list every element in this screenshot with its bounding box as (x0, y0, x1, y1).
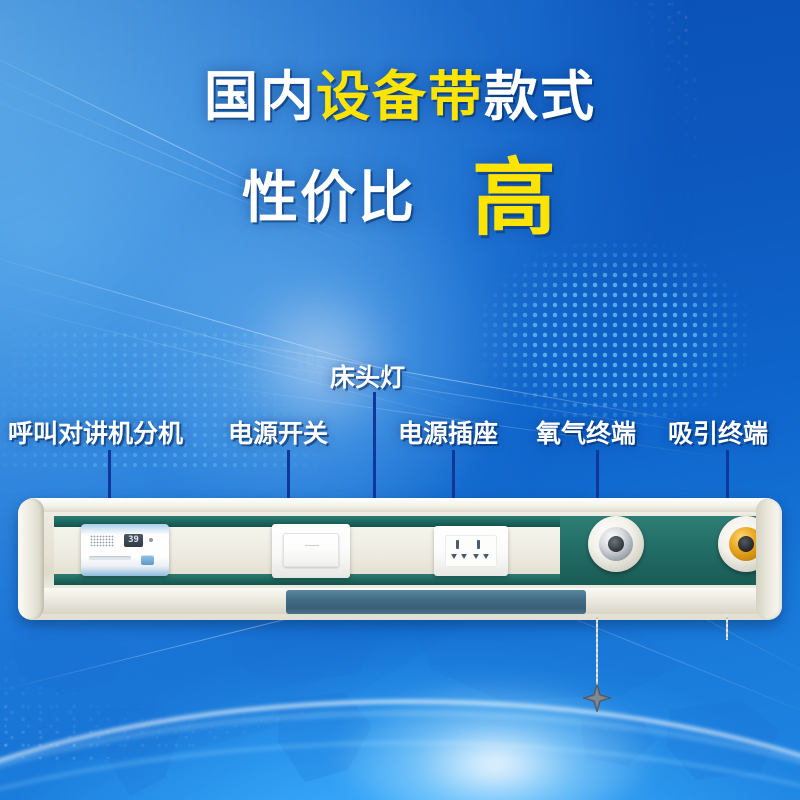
power-socket-device[interactable] (434, 526, 508, 576)
callout-power-switch-label: 电源开关 (228, 414, 328, 450)
unit-rail-tinted-section (286, 590, 586, 614)
intercom-device[interactable]: 39 (81, 524, 169, 576)
callout-oxygen-label: 氧气终端 (536, 414, 636, 450)
headline-seg-2: 设备带 (316, 67, 484, 127)
headline-emphasis: 高 (472, 151, 558, 245)
headline-line-2: 性价比高 (0, 146, 800, 230)
headline-value-text: 性价比 (242, 166, 416, 229)
promo-banner: 国内设备带款式 性价比高 呼叫对讲机分机 电源开关 床头灯 电源插座 氧气终端 … (0, 0, 800, 800)
oxygen-terminal-port (608, 536, 624, 552)
status-led-icon (149, 538, 153, 542)
pull-cord-string[interactable] (596, 614, 598, 692)
intercom-display: 39 (124, 534, 143, 547)
oxygen-terminal[interactable] (588, 516, 644, 572)
rocker-switch[interactable] (283, 533, 339, 567)
headline-block: 国内设备带款式 性价比高 (0, 70, 800, 230)
callout-suction-label: 吸引终端 (668, 414, 768, 450)
callout-bed-lamp-label: 床头灯 (330, 358, 405, 394)
socket-pin-angled-3 (473, 554, 479, 559)
unit-body: 39 (18, 498, 782, 620)
socket-pin-angled-1 (451, 554, 457, 559)
socket-pin-angled-2 (461, 554, 467, 559)
socket-pin-vertical-2 (477, 540, 480, 549)
callout-intercom-label: 呼叫对讲机分机 (8, 414, 183, 450)
unit-end-cap-right (756, 498, 782, 620)
socket-pin-angled-4 (483, 554, 489, 559)
intercom-call-button[interactable] (141, 555, 154, 565)
bed-head-unit: 39 (18, 498, 782, 620)
pull-cord-handle-icon[interactable] (583, 684, 611, 712)
power-switch-device[interactable] (272, 524, 350, 578)
socket-pin-vertical-1 (456, 540, 459, 549)
rocker-marking (305, 545, 319, 546)
speaker-grill-icon (90, 535, 114, 547)
callout-socket-label: 电源插座 (398, 414, 498, 450)
intercom-slot (89, 556, 131, 560)
headline-seg-1: 国内 (204, 67, 316, 127)
socket-face (445, 535, 497, 567)
headline-line-1: 国内设备带款式 (0, 70, 800, 124)
unit-end-cap-left (18, 498, 44, 620)
suction-terminal-port (738, 536, 754, 552)
unit-top-edge (18, 498, 782, 512)
headline-seg-3: 款式 (484, 67, 596, 127)
pull-cord-string-short (726, 614, 728, 640)
oxygen-terminal-body (599, 527, 633, 561)
